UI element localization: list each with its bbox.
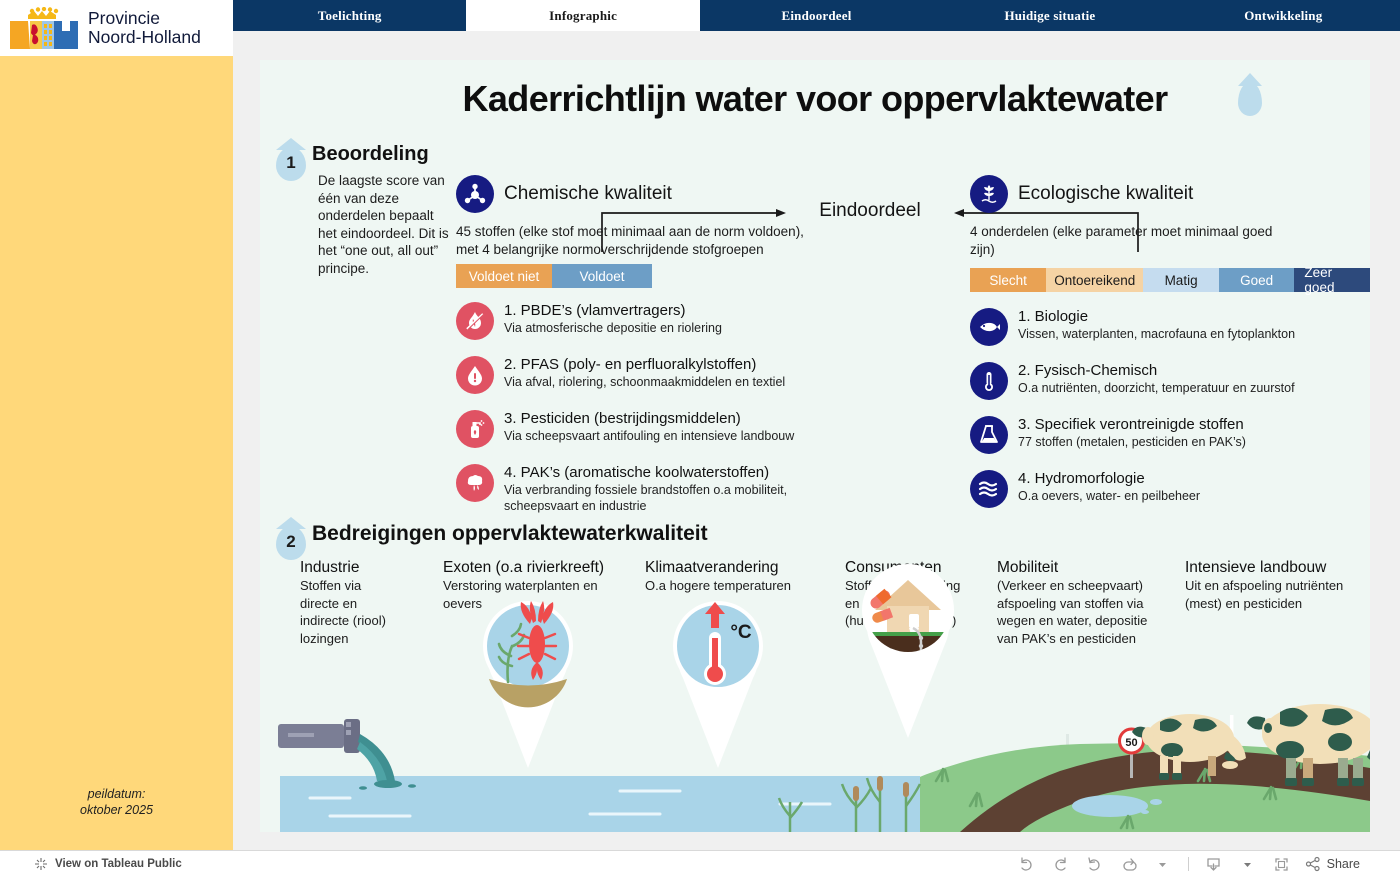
peildatum-value: oktober 2025 <box>0 802 233 818</box>
provincie-logo: Provincie Noord-Holland <box>0 0 233 56</box>
share-icon <box>1305 856 1321 872</box>
thermometer-pin: °C <box>665 594 771 769</box>
droplet-warning-icon <box>456 356 494 394</box>
chemical-item-3: 3. Pesticiden (bestrijdingsmiddelen) Via… <box>456 410 826 448</box>
refresh-icon[interactable] <box>1112 853 1146 875</box>
tableau-toolbar: View on Tableau Public <box>0 850 1400 877</box>
view-on-tableau-public-button[interactable]: View on Tableau Public <box>34 857 182 871</box>
chemical-quality-block: Chemische kwaliteit 45 stoffen (elke sto… <box>456 175 826 514</box>
legend-label: Voldoet niet <box>469 269 540 284</box>
redo-icon[interactable] <box>1044 853 1078 875</box>
logo-line-1: Provincie <box>88 9 201 28</box>
item-sub: Via verbranding fossiele brandstoffen o.… <box>504 482 804 514</box>
view-on-tableau-public-label: View on Tableau Public <box>55 858 182 870</box>
noord-holland-crest-icon <box>8 7 80 49</box>
item-title: 1. Biologie <box>1018 308 1295 326</box>
legend-zeer-goed[interactable]: Zeer goed <box>1294 268 1370 292</box>
legend-label: Zeer goed <box>1304 265 1360 295</box>
threat-title: Industrie <box>300 558 450 577</box>
threat-title: Exoten (o.a rivierkreeft) <box>443 558 638 577</box>
tab-huidige-situatie[interactable]: Huidige situatie <box>933 0 1166 31</box>
item-title: 1. PBDE’s (vlamvertragers) <box>504 302 722 320</box>
item-sub: Via afval, riolering, schoonmaakmiddelen… <box>504 374 785 390</box>
spray-bottle-icon <box>456 410 494 448</box>
peildatum-label: peildatum: <box>0 786 233 802</box>
item-title: 2. PFAS (poly- en perfluoralkylstoffen) <box>504 356 785 374</box>
threat-sub: Uit en afspoeling nutriënten (mest) en p… <box>1185 577 1345 612</box>
section-number-badge: 1 <box>276 143 306 183</box>
landscape-illustration: 50 <box>260 616 1370 832</box>
tab-label: Eindoordeel <box>781 8 851 24</box>
tableau-logo-icon <box>34 857 48 871</box>
item-sub: Via atmosferische depositie en riolering <box>504 320 722 336</box>
item-sub: Via scheepsvaart antifouling en intensie… <box>504 428 794 444</box>
peildatum: peildatum: oktober 2025 <box>0 786 233 818</box>
ecological-quality-block: Ecologische kwaliteit 4 onderdelen (elke… <box>970 175 1370 508</box>
logo-text: Provincie Noord-Holland <box>88 9 201 47</box>
download-icon[interactable] <box>1197 853 1231 875</box>
tab-ontwikkeling[interactable]: Ontwikkeling <box>1167 0 1400 31</box>
chemical-item-4: 4. PAK’s (aromatische koolwaterstoffen) … <box>456 464 826 514</box>
molecule-icon <box>456 175 494 213</box>
smoke-cloud-icon <box>456 464 494 502</box>
item-title: 3. Pesticiden (bestrijdingsmiddelen) <box>504 410 794 428</box>
fish-icon <box>970 308 1008 346</box>
item-sub: Vissen, waterplanten, macrofauna en fyto… <box>1018 326 1295 342</box>
legend-goed[interactable]: Goed <box>1219 268 1295 292</box>
ecological-item-2: 2. Fysisch-Chemisch O.a nutriënten, door… <box>970 362 1370 400</box>
infographic-canvas: Kaderrichtlijn water voor oppervlaktewat… <box>260 60 1370 832</box>
flask-icon <box>970 416 1008 454</box>
legend-matig[interactable]: Matig <box>1143 268 1219 292</box>
item-title: 4. PAK’s (aromatische koolwaterstoffen) <box>504 464 804 482</box>
legend-label: Matig <box>1165 273 1198 288</box>
ecological-item-4: 4. Hydromorfologie O.a oevers, water- en… <box>970 470 1370 508</box>
legend-slecht[interactable]: Slecht <box>970 268 1046 292</box>
plant-icon <box>970 175 1008 213</box>
ecological-legend: Slecht Ontoereikend Matig Goed Zeer goed <box>970 268 1370 292</box>
threat-title: Mobiliteit <box>997 558 1177 577</box>
house-sewer-pin <box>853 554 963 739</box>
tab-label: Huidige situatie <box>1004 8 1095 24</box>
ecological-quality-header: Ecologische kwaliteit <box>970 175 1370 213</box>
chemical-legend: Voldoet niet Voldoet <box>456 264 826 288</box>
legend-label: Voldoet <box>579 269 624 284</box>
water-drop-icon <box>1238 82 1262 116</box>
item-title: 4. Hydromorfologie <box>1018 470 1200 488</box>
chevron-down-icon[interactable] <box>1146 853 1180 875</box>
section-2-header: 2 Bedreigingen oppervlaktewaterkwaliteit <box>276 522 708 562</box>
legend-label: Goed <box>1240 273 1273 288</box>
toolbar-actions: Share <box>1010 853 1360 875</box>
chemical-quality-header: Chemische kwaliteit <box>456 175 826 213</box>
item-title: 2. Fysisch-Chemisch <box>1018 362 1295 380</box>
section-number-badge: 2 <box>276 522 306 562</box>
section-1-title: Beoordeling <box>312 143 429 166</box>
threat-sub: O.a hogere temperaturen <box>645 577 825 595</box>
threat-intensieve-landbouw: Intensieve landbouw Uit en afspoeling nu… <box>1185 558 1360 612</box>
tab-eindoordeel[interactable]: Eindoordeel <box>700 0 933 31</box>
flame-no-icon <box>456 302 494 340</box>
tableau-viz-page: Toelichting Infographic Eindoordeel Huid… <box>0 0 1400 877</box>
share-label: Share <box>1327 857 1360 871</box>
tab-infographic[interactable]: Infographic <box>466 0 699 31</box>
temperature-unit-label: °C <box>730 622 752 643</box>
ecological-item-1: 1. Biologie Vissen, waterplanten, macrof… <box>970 308 1370 346</box>
waves-icon <box>970 470 1008 508</box>
logo-line-2: Noord-Holland <box>88 28 201 47</box>
toolbar-divider <box>1188 857 1189 871</box>
thermometer-icon <box>970 362 1008 400</box>
threat-title: Intensieve landbouw <box>1185 558 1360 577</box>
item-title: 3. Specifiek verontreinigde stoffen <box>1018 416 1246 434</box>
page-title: Kaderrichtlijn water voor oppervlaktewat… <box>260 78 1370 120</box>
section-1-body: De laagste score van één van deze onderd… <box>318 172 454 277</box>
ecological-quality-title: Ecologische kwaliteit <box>1018 183 1193 205</box>
fullscreen-icon[interactable] <box>1265 853 1299 875</box>
item-sub: O.a oevers, water- en peilbeheer <box>1018 488 1200 504</box>
revert-icon[interactable] <box>1078 853 1112 875</box>
ecological-quality-body: 4 onderdelen (elke parameter moet minima… <box>970 223 1290 258</box>
section-number: 1 <box>276 153 306 173</box>
threat-klimaatverandering: Klimaatverandering O.a hogere temperatur… <box>645 558 840 595</box>
legend-voldoet-niet[interactable]: Voldoet niet <box>456 264 552 288</box>
section-2-title: Bedreigingen oppervlaktewaterkwaliteit <box>312 522 708 546</box>
tab-strip: Toelichting Infographic Eindoordeel Huid… <box>233 0 1400 31</box>
chemical-quality-body: 45 stoffen (elke stof moet minimaal aan … <box>456 223 808 258</box>
legend-ontoereikend[interactable]: Ontoereikend <box>1046 268 1143 292</box>
item-sub: O.a nutriënten, doorzicht, temperatuur e… <box>1018 380 1295 396</box>
chemical-quality-title: Chemische kwaliteit <box>504 183 672 205</box>
tab-label: Ontwikkeling <box>1244 8 1322 24</box>
item-sub: 77 stoffen (metalen, pesticiden en PAK’s… <box>1018 434 1246 450</box>
crayfish-pin <box>475 594 581 769</box>
legend-label: Slecht <box>989 273 1027 288</box>
threat-title: Klimaatverandering <box>645 558 840 577</box>
legend-voldoet[interactable]: Voldoet <box>552 264 652 288</box>
share-button[interactable]: Share <box>1305 856 1360 872</box>
chemical-item-2: 2. PFAS (poly- en perfluoralkylstoffen) … <box>456 356 826 394</box>
tab-label: Infographic <box>549 8 617 24</box>
legend-label: Ontoereikend <box>1054 273 1135 288</box>
left-sidebar: Provincie Noord-Holland peildatum: oktob… <box>0 31 233 850</box>
ecological-item-3: 3. Specifiek verontreinigde stoffen 77 s… <box>970 416 1370 454</box>
tab-label: Toelichting <box>318 8 382 24</box>
speed-limit-value: 50 <box>1125 737 1137 749</box>
section-number: 2 <box>276 532 306 552</box>
tab-toelichting[interactable]: Toelichting <box>233 0 466 31</box>
chemical-item-1: 1. PBDE’s (vlamvertragers) Via atmosferi… <box>456 302 826 340</box>
undo-icon[interactable] <box>1010 853 1044 875</box>
download-chevron-down-icon[interactable] <box>1231 853 1265 875</box>
